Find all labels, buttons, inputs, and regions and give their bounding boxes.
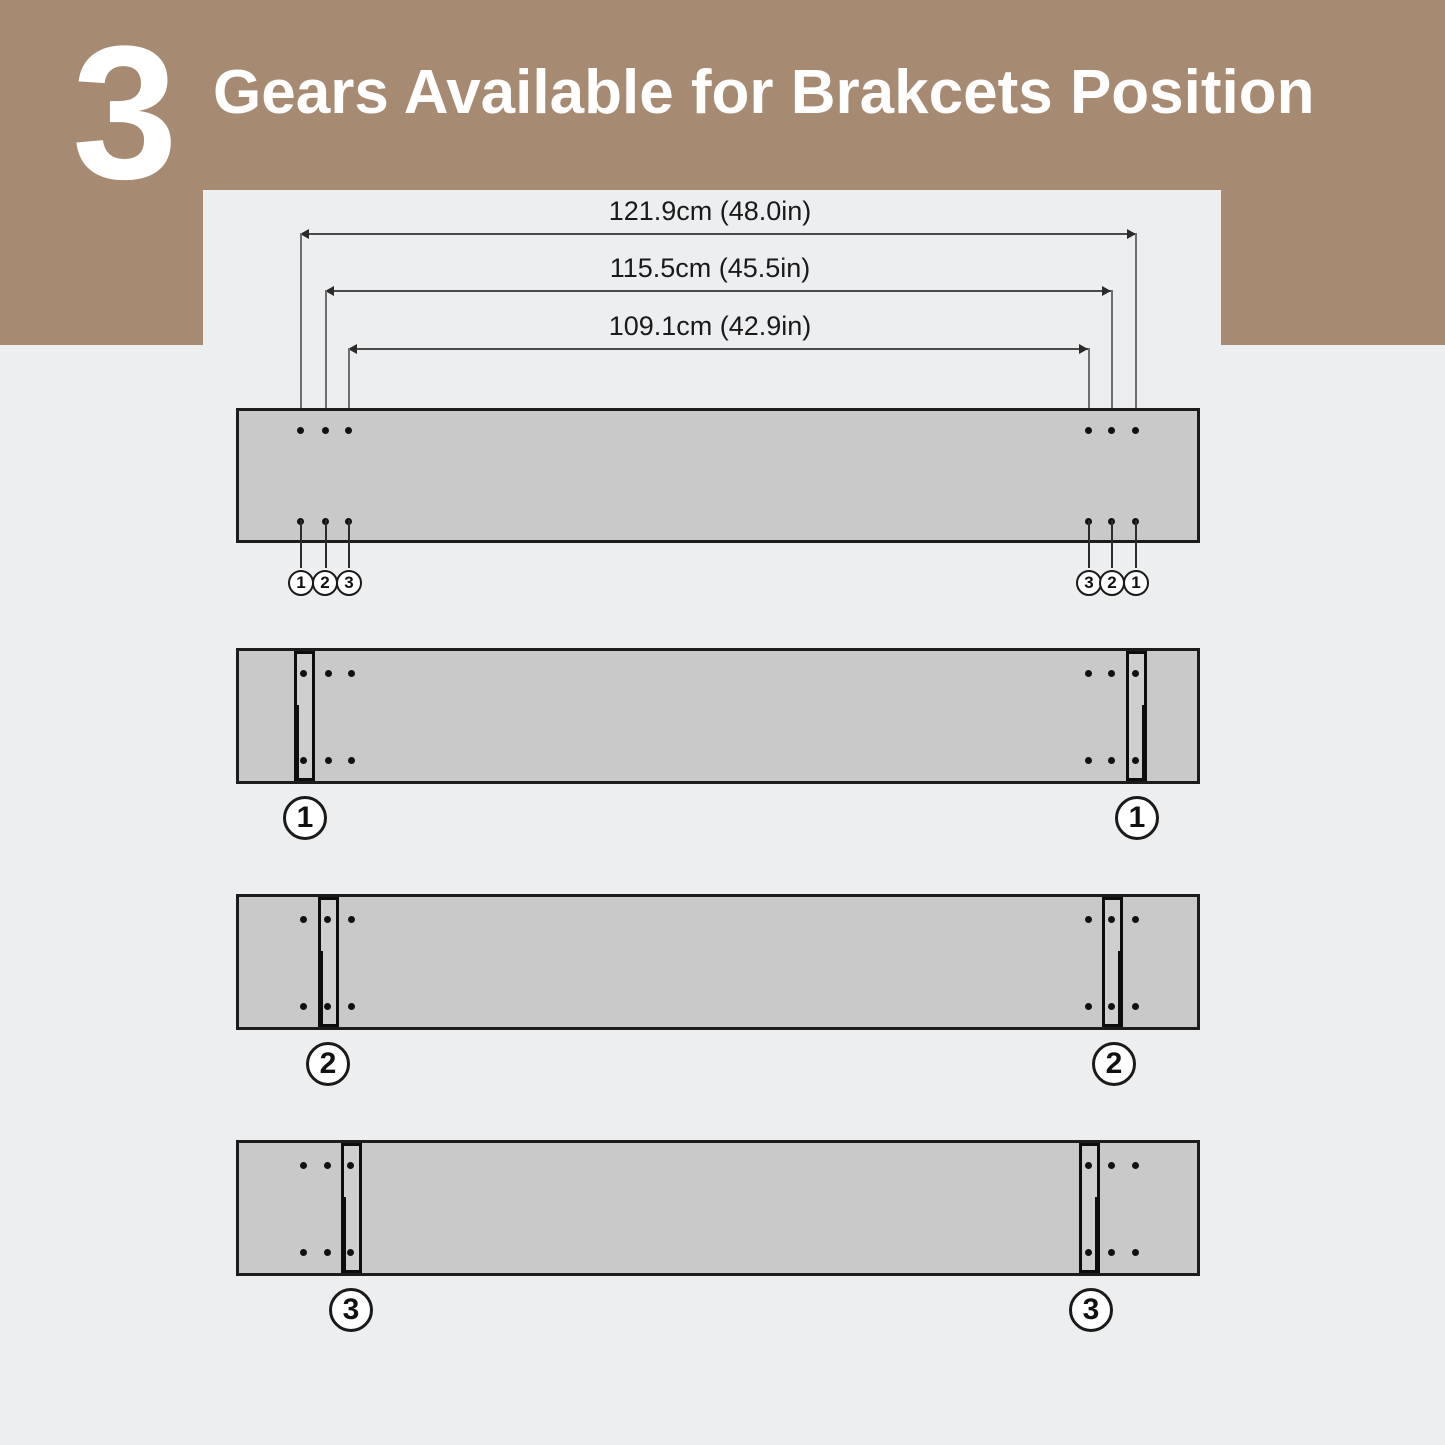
overview-callout-right-1: 1 xyxy=(1123,570,1149,596)
gear-1-board-hole-right-top-3 xyxy=(1085,670,1092,677)
gear-2-bracket-left-hole-top xyxy=(324,916,331,923)
overview-leader-right-2 xyxy=(1111,520,1113,568)
gear-2-board-hole-left-top-3 xyxy=(348,916,355,923)
overview-leader-left-2 xyxy=(325,520,327,568)
gear-3-callout-left: 3 xyxy=(329,1288,373,1332)
overview-callout-left-2: 2 xyxy=(312,570,338,596)
gear-1-bracket-right-hole-top xyxy=(1132,670,1139,677)
gear-1-callout-left: 1 xyxy=(283,796,327,840)
gear-1-bracket-left-seam xyxy=(296,705,299,781)
gear-2-bracket-right-seam xyxy=(1118,951,1121,1027)
gear-2-board xyxy=(236,894,1200,1030)
gear-3-bracket-right-seam xyxy=(1095,1197,1098,1273)
gear-2-bracket-right-hole-bottom xyxy=(1108,1003,1115,1010)
gear-3-board-hole-right-bottom-2 xyxy=(1108,1249,1115,1256)
overview-callout-left-3: 3 xyxy=(336,570,362,596)
dimension-label-1: 121.9cm (48.0in) xyxy=(410,196,1010,227)
overview-leader-left-3 xyxy=(348,520,350,568)
dimension-ext-left-1 xyxy=(300,233,302,430)
gear-2-callout-left: 2 xyxy=(306,1042,350,1086)
gear-1-board-hole-left-top-2 xyxy=(325,670,332,677)
page-title: Gears Available for Brakcets Position xyxy=(213,58,1315,128)
overview-leader-left-1 xyxy=(300,520,302,568)
dimension-label-3: 109.1cm (42.9in) xyxy=(410,311,1010,342)
overview-hole-top-right-3 xyxy=(1085,427,1092,434)
dimension-ext-right-1 xyxy=(1135,233,1137,430)
gear-1-board xyxy=(236,648,1200,784)
overview-hole-top-left-1 xyxy=(297,427,304,434)
overview-board xyxy=(236,408,1200,543)
gear-2-board-hole-left-bottom-1 xyxy=(300,1003,307,1010)
overview-callout-left-1: 1 xyxy=(288,570,314,596)
gear-3-board-hole-right-top-2 xyxy=(1108,1162,1115,1169)
gear-1-board-hole-right-bottom-3 xyxy=(1085,757,1092,764)
gear-3-board-hole-left-bottom-1 xyxy=(300,1249,307,1256)
gear-3-board xyxy=(236,1140,1200,1276)
gear-2-bracket-right-hole-top xyxy=(1108,916,1115,923)
gear-3-bracket-right-hole-top xyxy=(1085,1162,1092,1169)
overview-leader-right-1 xyxy=(1135,520,1137,568)
gear-2-bracket-left-hole-bottom xyxy=(324,1003,331,1010)
gear-1-bracket-right-seam xyxy=(1142,705,1145,781)
overview-hole-top-right-1 xyxy=(1132,427,1139,434)
gear-1-board-hole-left-bottom-3 xyxy=(348,757,355,764)
overview-hole-top-right-2 xyxy=(1108,427,1115,434)
gear-3-board-hole-left-bottom-2 xyxy=(324,1249,331,1256)
overview-hole-top-left-3 xyxy=(345,427,352,434)
dimension-label-2: 115.5cm (45.5in) xyxy=(410,253,1010,284)
gear-1-board-hole-left-bottom-2 xyxy=(325,757,332,764)
gear-3-board-hole-right-top-1 xyxy=(1132,1162,1139,1169)
gear-3-bracket-left-hole-top xyxy=(347,1162,354,1169)
overview-leader-right-3 xyxy=(1088,520,1090,568)
gear-2-board-hole-right-top-1 xyxy=(1132,916,1139,923)
dimension-line-1 xyxy=(300,233,1136,235)
gear-1-bracket-left-hole-top xyxy=(300,670,307,677)
dimension-arrow-right-2 xyxy=(1102,286,1111,296)
dimension-line-2 xyxy=(325,290,1111,292)
gear-2-board-hole-left-bottom-3 xyxy=(348,1003,355,1010)
overview-callout-right-2: 2 xyxy=(1099,570,1125,596)
gear-2-board-hole-right-bottom-3 xyxy=(1085,1003,1092,1010)
gear-1-bracket-right-hole-bottom xyxy=(1132,757,1139,764)
dimension-arrow-right-3 xyxy=(1079,344,1088,354)
header-step-number: 3 xyxy=(72,18,174,208)
gear-3-board-hole-left-top-1 xyxy=(300,1162,307,1169)
gear-3-bracket-left-hole-bottom xyxy=(347,1249,354,1256)
gear-2-callout-right: 2 xyxy=(1092,1042,1136,1086)
gear-1-callout-right: 1 xyxy=(1115,796,1159,840)
dimension-line-3 xyxy=(348,348,1088,350)
overview-hole-top-left-2 xyxy=(322,427,329,434)
gear-3-bracket-left-seam xyxy=(343,1197,346,1273)
gear-1-board-hole-left-top-3 xyxy=(348,670,355,677)
gear-1-board-hole-right-top-2 xyxy=(1108,670,1115,677)
gear-3-bracket-right-hole-bottom xyxy=(1085,1249,1092,1256)
gear-3-callout-right: 3 xyxy=(1069,1288,1113,1332)
gear-2-board-hole-right-bottom-1 xyxy=(1132,1003,1139,1010)
gear-2-board-hole-right-top-3 xyxy=(1085,916,1092,923)
gear-2-board-hole-left-top-1 xyxy=(300,916,307,923)
gear-2-bracket-left-seam xyxy=(320,951,323,1027)
gear-3-board-hole-right-bottom-1 xyxy=(1132,1249,1139,1256)
gear-1-bracket-left-hole-bottom xyxy=(300,757,307,764)
gear-3-board-hole-left-top-2 xyxy=(324,1162,331,1169)
gear-1-board-hole-right-bottom-2 xyxy=(1108,757,1115,764)
